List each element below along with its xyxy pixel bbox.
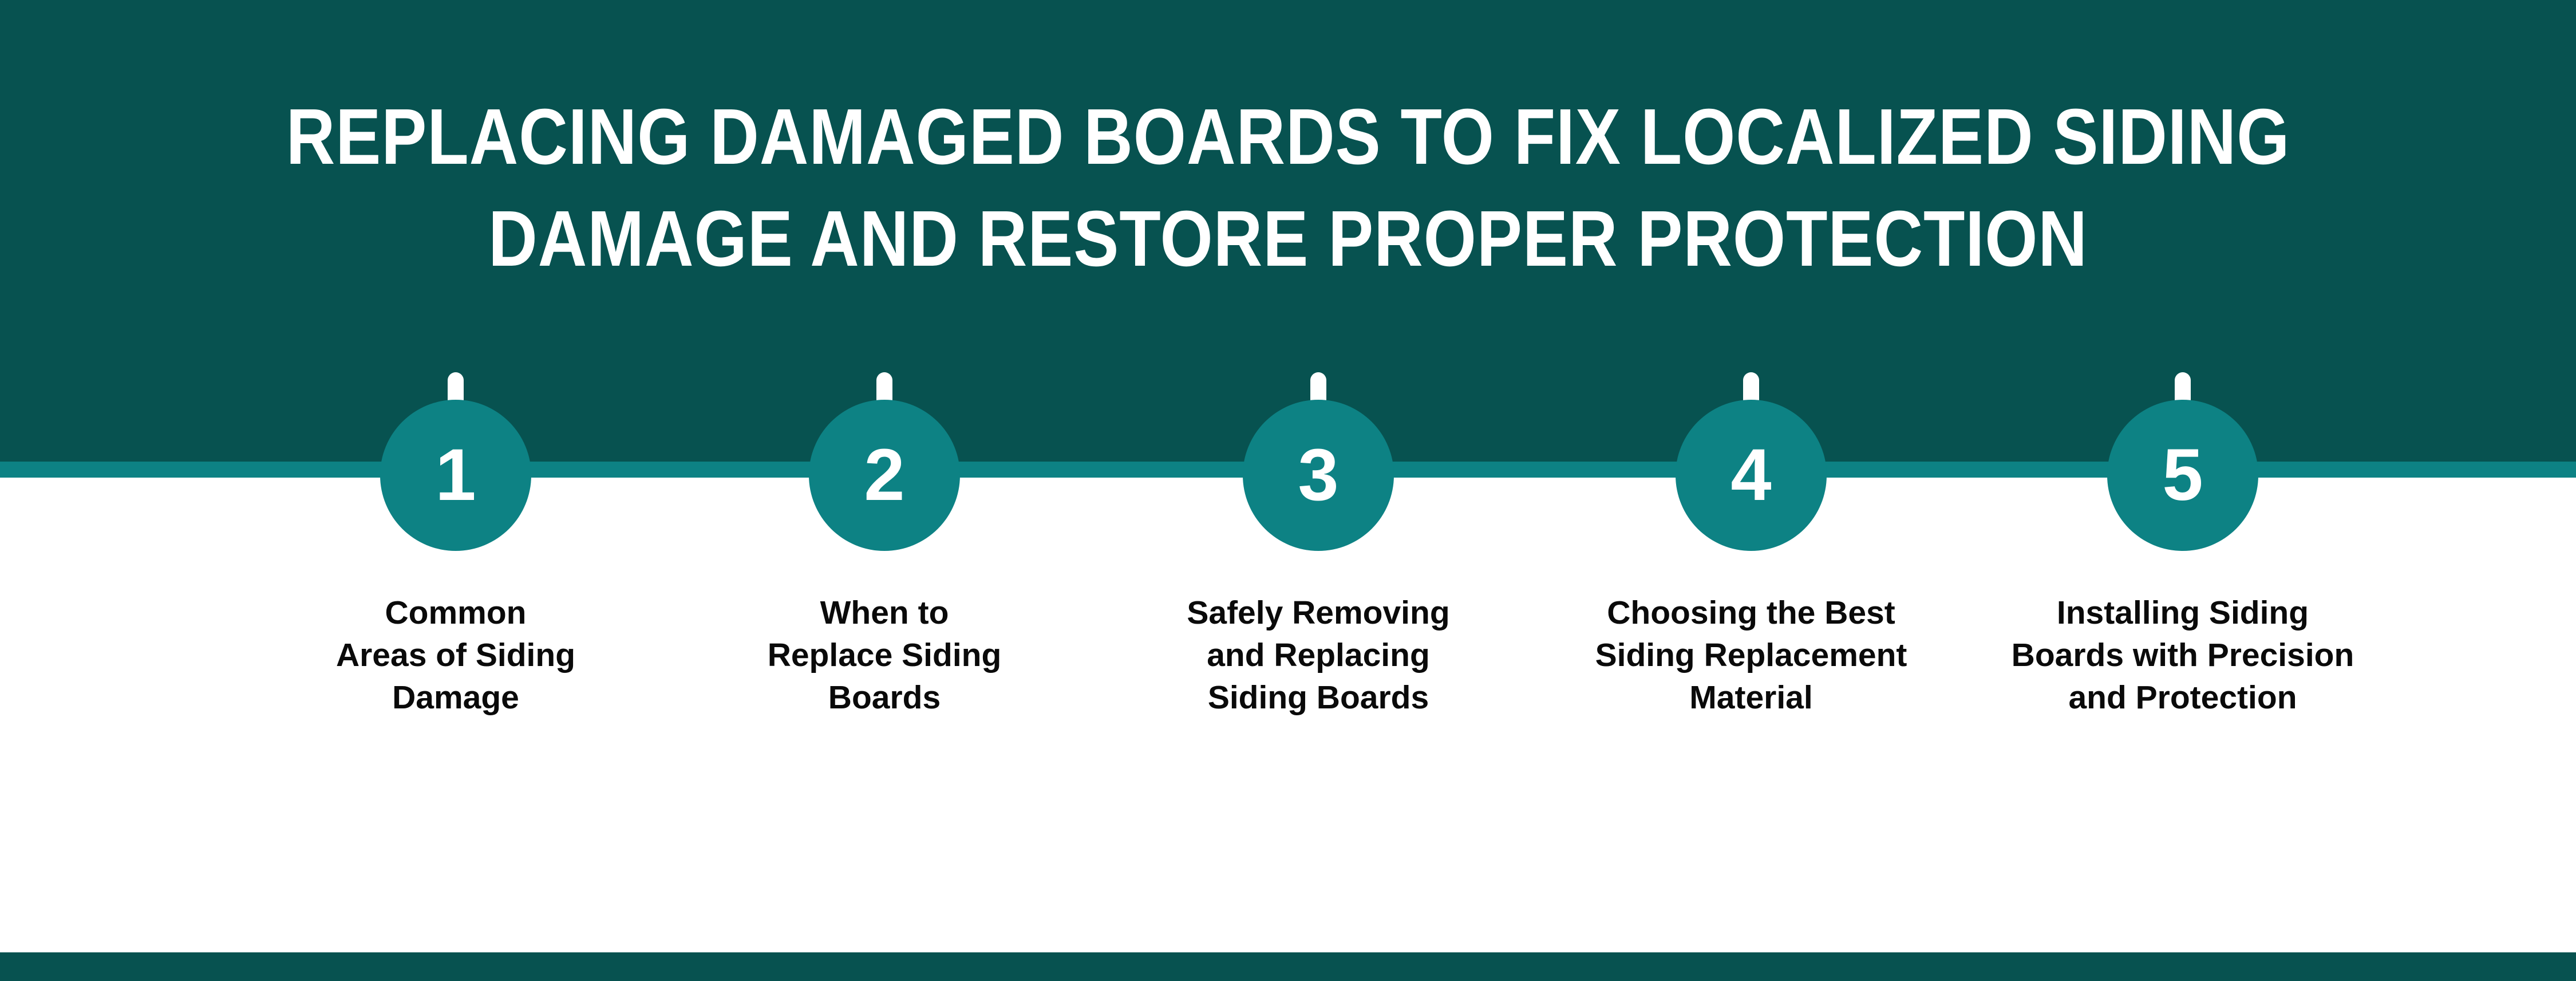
step-number-3: 3 xyxy=(1298,439,1338,512)
step-number-5: 5 xyxy=(2162,439,2203,512)
infographic-canvas: REPLACING DAMAGED BOARDS TO FIX LOCALIZE… xyxy=(0,0,2576,981)
footer-band xyxy=(0,952,2576,981)
step-circle-5[interactable]: 5 xyxy=(2107,400,2258,551)
step-circle-2[interactable]: 2 xyxy=(809,400,960,551)
step-caption-5: Installing Siding Boards with Precision … xyxy=(2005,592,2360,719)
step-caption-1: Common Areas of Siding Damage xyxy=(278,592,633,719)
steps-timeline: 1 Common Areas of Siding Damage 2 When t… xyxy=(0,0,2576,981)
step-caption-4: Choosing the Best Siding Replacement Mat… xyxy=(1574,592,1929,719)
step-circle-4[interactable]: 4 xyxy=(1676,400,1827,551)
step-circle-1[interactable]: 1 xyxy=(380,400,531,551)
step-caption-3: Safely Removing and Replacing Siding Boa… xyxy=(1141,592,1496,719)
step-number-4: 4 xyxy=(1730,439,1771,512)
step-circle-3[interactable]: 3 xyxy=(1243,400,1394,551)
step-number-2: 2 xyxy=(864,439,904,512)
step-caption-2: When to Replace Siding Boards xyxy=(707,592,1062,719)
step-number-1: 1 xyxy=(435,439,476,512)
